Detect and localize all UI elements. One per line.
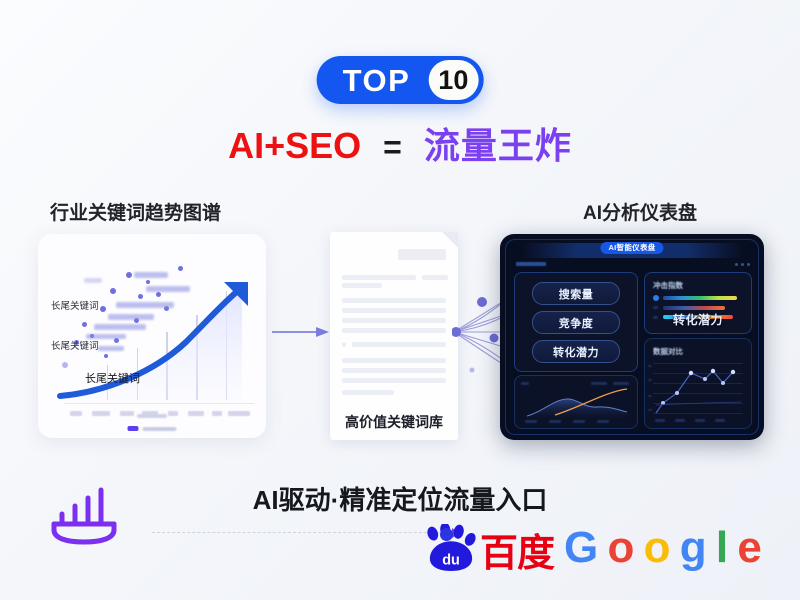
keyword-library-document: 高价值关键词库 [330,232,458,440]
infographic-canvas: TOP 10 AI+SEO = 流量王炸 行业关键词趋势图谱 AI分析仪表盘 [0,0,800,600]
top-badge-number: 10 [428,60,478,100]
title-part-ai-seo: AI+SEO [228,125,361,166]
conversion-potential-panel: 冲击指数 转化潜力 [644,272,752,334]
baidu-logo-text: 百度 [480,536,554,572]
dashboard-area-chart [514,375,638,429]
chart-legend [128,426,177,431]
metric-pill-panel: 搜索量 竞争度 转化潜力 [514,272,638,372]
google-letter-o2: o [644,523,669,572]
title-part-traffic: 流量王炸 [424,125,572,166]
conversion-overlay-label: 转化潜力 [673,311,723,328]
footer-node-dot [440,528,453,541]
dashboard-line-chart: 数据对比 [644,338,752,429]
line-chart-title: 数据对比 [653,346,683,357]
right-section-caption: AI分析仪表盘 [583,198,697,225]
chart-annotation-3: 长尾关键词 [85,370,140,386]
line-chart-series [653,357,743,417]
dashboard-menu-icon[interactable] [735,263,750,266]
svg-text:du: du [442,552,460,568]
bar-chart-growth-icon [46,484,122,550]
legend-label [143,427,177,431]
chart-x-axis [64,403,254,404]
title-equals-sign: = [383,129,402,165]
google-logo: G o o g l e [564,526,760,570]
chart-annotation-2: 长尾关键词 [51,338,99,352]
document-fold-corner [442,232,458,248]
page-title: AI+SEO = 流量王炸 [0,128,800,164]
left-section-caption: 行业关键词趋势图谱 [50,198,221,225]
conversion-panel-title: 冲击指数 [653,280,683,291]
metric-pill-conversion[interactable]: 转化潜力 [532,340,620,363]
google-letter-e: e [737,523,760,572]
dashboard-title-label: AI智能仪表盘 [608,244,655,252]
google-letter-o1: o [607,523,632,572]
ai-dashboard-panel: AI智能仪表盘 搜索量 竞争度 转化潜力 [500,234,764,440]
google-letter-g1: G [564,523,597,572]
document-caption: 高价值关键词库 [330,412,458,432]
chart-annotation-1: 长尾关键词 [51,298,99,312]
dashboard-brand-mark [516,262,546,266]
chart-label-cluster [38,234,266,438]
search-engine-logos: du 百度 G o o g l e [424,524,760,572]
legend-swatch [128,426,139,431]
google-letter-g2: g [680,523,705,572]
flow-arrow-1 [272,326,330,338]
top-badge-word: TOP [343,65,429,96]
dashboard-title-badge: AI智能仪表盘 [600,242,663,254]
keyword-trend-chart-card: 长尾关键词 长尾关键词 长尾关键词 [38,234,266,438]
metric-pill-search-volume[interactable]: 搜索量 [532,282,620,305]
chart-x-axis-title [137,414,167,418]
google-letter-l: l [716,523,727,572]
top-rank-badge: TOP 10 [317,56,484,104]
document-header-block [398,249,446,260]
footer-dashed-connector [152,532,452,534]
metric-pill-competition[interactable]: 竞争度 [532,311,620,334]
